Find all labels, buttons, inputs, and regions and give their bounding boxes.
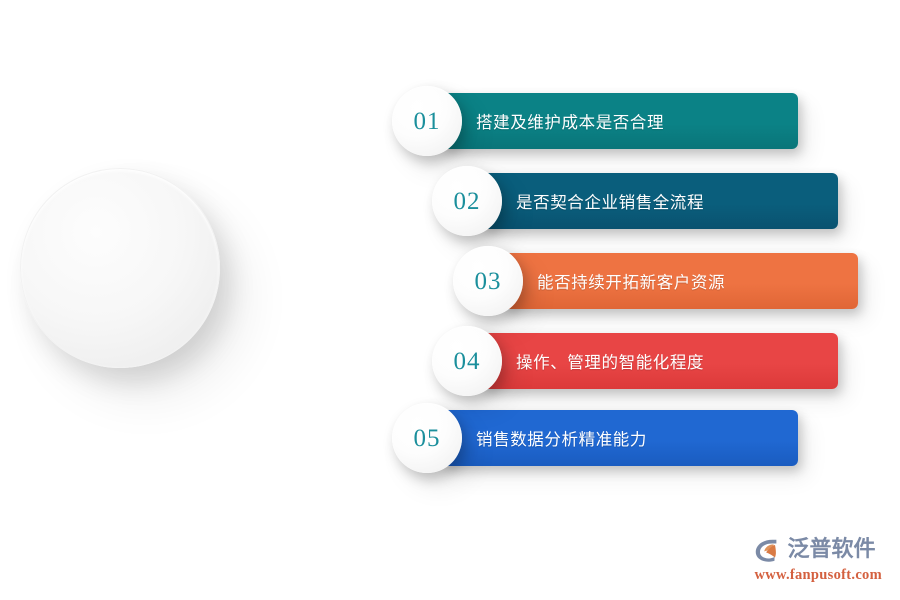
fanpu-logo-icon: [752, 535, 782, 565]
list-item-number: 03: [475, 269, 502, 294]
list-item-number-badge[interactable]: 04: [432, 326, 502, 396]
list-row[interactable]: 能否持续开拓新客户资源03: [453, 253, 858, 309]
list-item-bar[interactable]: 能否持续开拓新客户资源: [504, 253, 858, 309]
list-row[interactable]: 销售数据分析精准能力05: [392, 410, 798, 466]
logo-brand-text: 泛普软件: [787, 539, 875, 561]
decorative-circle: [20, 168, 220, 368]
list-item-bar[interactable]: 搭建及维护成本是否合理: [443, 93, 798, 149]
list-item-bar[interactable]: 操作、管理的智能化程度: [483, 333, 838, 389]
infographic-canvas: 搭建及维护成本是否合理01是否契合企业销售全流程02能否持续开拓新客户资源03操…: [0, 0, 900, 600]
list-item-label: 操作、管理的智能化程度: [516, 349, 704, 373]
list-item-label: 销售数据分析精准能力: [476, 426, 647, 450]
list-item-number: 02: [454, 189, 481, 214]
list-item-number-badge[interactable]: 05: [392, 403, 462, 473]
brand-logo: 泛普软件 www.fanpusoft.com: [752, 535, 882, 583]
list-row[interactable]: 操作、管理的智能化程度04: [432, 333, 838, 389]
list-item-number-badge[interactable]: 02: [432, 166, 502, 236]
list-item-number: 01: [414, 109, 441, 134]
list-item-bar[interactable]: 销售数据分析精准能力: [443, 410, 798, 466]
logo-url-text: www.fanpusoft.com: [754, 568, 882, 583]
list-item-number: 05: [414, 426, 441, 451]
list-item-label: 能否持续开拓新客户资源: [537, 269, 725, 293]
list-row[interactable]: 是否契合企业销售全流程02: [432, 173, 838, 229]
list-item-bar[interactable]: 是否契合企业销售全流程: [483, 173, 838, 229]
list-item-label: 搭建及维护成本是否合理: [476, 109, 664, 133]
logo-top-row: 泛普软件: [752, 535, 875, 565]
list-item-number-badge[interactable]: 03: [453, 246, 523, 316]
list-item-number-badge[interactable]: 01: [392, 86, 462, 156]
list-item-number: 04: [454, 349, 481, 374]
list-item-label: 是否契合企业销售全流程: [516, 189, 704, 213]
list-row[interactable]: 搭建及维护成本是否合理01: [392, 93, 798, 149]
